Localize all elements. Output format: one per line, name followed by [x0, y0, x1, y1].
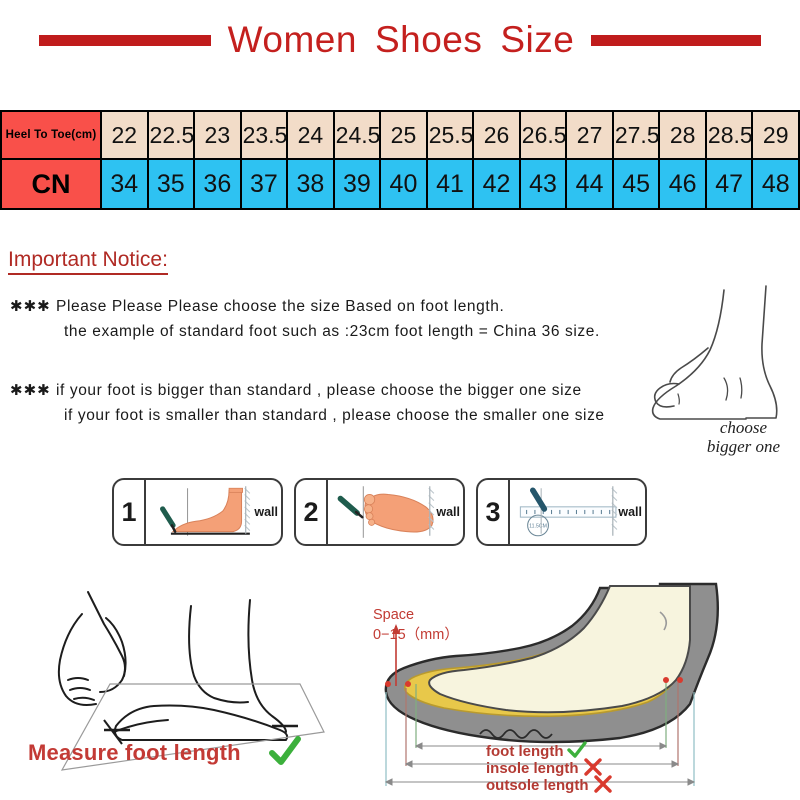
asterisk-icon: ✱✱✱ — [10, 378, 56, 403]
table-cell-cm: 24 — [287, 111, 334, 159]
table-cell-cn: 39 — [334, 159, 381, 209]
caption-line: bigger one — [686, 437, 800, 456]
legend-outsole-length: outsole length — [486, 775, 613, 794]
notice-text: if your foot is bigger than standard , p… — [56, 382, 582, 399]
notice-line: ✱✱✱Please Please Please choose the size … — [10, 294, 600, 319]
table-cell-cn: 45 — [613, 159, 660, 209]
table-cell-cn: 40 — [380, 159, 427, 209]
table-row-heel-to-toe: Heel To Toe(cm) 22 22.5 23 23.5 24 24.5 … — [1, 111, 799, 159]
table-cell-cn: 43 — [520, 159, 567, 209]
table-cell-cm: 29 — [752, 111, 799, 159]
step-number: 1 — [114, 480, 146, 544]
table-cell-cm: 24.5 — [334, 111, 381, 159]
table-cell-cm: 26 — [473, 111, 520, 159]
table-cell-cn: 46 — [659, 159, 706, 209]
title-word-3: Size — [500, 19, 574, 60]
foot-shape — [429, 586, 690, 712]
measure-foot-length-caption: Measure foot length — [28, 740, 241, 766]
step-panel-1: 1 wall — [112, 478, 283, 546]
table-cell-cn: 41 — [427, 159, 474, 209]
asterisk-icon: ✱✱✱ — [10, 294, 56, 319]
notice-line: the example of standard foot such as :23… — [10, 319, 600, 344]
step-1-illustration: wall — [146, 480, 281, 544]
row-label-heel-to-toe: Heel To Toe(cm) — [1, 111, 101, 159]
table-cell-cm: 23.5 — [241, 111, 288, 159]
ruler-measure-value: 11.5CM — [529, 523, 547, 529]
row-label-cn: CN — [1, 159, 101, 209]
cross-mark-icon — [583, 758, 603, 776]
cross-mark-icon — [593, 775, 613, 793]
space-label-line: 0−15（mm） — [373, 625, 459, 645]
space-label-line: Space — [373, 605, 459, 625]
table-cell-cm: 22 — [101, 111, 148, 159]
notice-line: ✱✱✱if your foot is bigger than standard … — [10, 378, 605, 403]
title-rule-left — [39, 35, 211, 46]
step-panel-2: 2 wall — [294, 478, 465, 546]
table-cell-cm: 27.5 — [613, 111, 660, 159]
step-2-illustration: wall — [328, 480, 463, 544]
table-cell-cm: 22.5 — [148, 111, 195, 159]
table-cell-cn: 34 — [101, 159, 148, 209]
page-title-bar: WomenShoesSize — [0, 16, 800, 64]
notice-line: if your foot is smaller than standard , … — [10, 403, 605, 428]
table-cell-cn: 47 — [706, 159, 753, 209]
space-label: Space 0−15（mm） — [373, 605, 459, 645]
notice-text: Please Please Please choose the size Bas… — [56, 298, 504, 315]
step-panel-3: 3 11.5CM — [476, 478, 647, 546]
wall-label: wall — [618, 505, 642, 519]
table-cell-cm: 25.5 — [427, 111, 474, 159]
choose-bigger-one-caption: choose bigger one — [686, 418, 800, 456]
step-number: 3 — [478, 480, 510, 544]
table-cell-cn: 42 — [473, 159, 520, 209]
wall-label: wall — [254, 505, 278, 519]
table-cell-cm: 28 — [659, 111, 706, 159]
check-mark-icon — [268, 735, 302, 769]
caption-line: choose — [686, 418, 800, 437]
page-title: WomenShoesSize — [219, 19, 584, 61]
table-cell-cn: 44 — [566, 159, 613, 209]
notice-block-2: ✱✱✱if your foot is bigger than standard … — [10, 378, 605, 428]
step-3-illustration: 11.5CM wall — [510, 480, 645, 544]
table-row-cn: CN 34 35 36 37 38 39 40 41 42 43 44 45 4… — [1, 159, 799, 209]
table-cell-cn: 35 — [148, 159, 195, 209]
table-cell-cm: 28.5 — [706, 111, 753, 159]
table-cell-cn: 48 — [752, 159, 799, 209]
table-cell-cm: 26.5 — [520, 111, 567, 159]
wall-label: wall — [436, 505, 460, 519]
title-rule-right — [591, 35, 761, 46]
title-word-2: Shoes — [375, 19, 482, 60]
notice-heading: Important Notice: — [8, 248, 168, 275]
table-cell-cn: 36 — [194, 159, 241, 209]
legend-label: outsole length — [486, 777, 589, 794]
step-number: 2 — [296, 480, 328, 544]
table-cell-cn: 37 — [241, 159, 288, 209]
table-cell-cm: 25 — [380, 111, 427, 159]
notice-block-1: ✱✱✱Please Please Please choose the size … — [10, 294, 600, 344]
table-cell-cn: 38 — [287, 159, 334, 209]
measurement-steps: 1 wall 2 — [112, 478, 647, 546]
shoe-size-table: Heel To Toe(cm) 22 22.5 23 23.5 24 24.5 … — [0, 110, 800, 210]
title-word-1: Women — [228, 19, 357, 60]
table-cell-cm: 27 — [566, 111, 613, 159]
table-cell-cm: 23 — [194, 111, 241, 159]
check-mark-icon — [567, 741, 587, 759]
